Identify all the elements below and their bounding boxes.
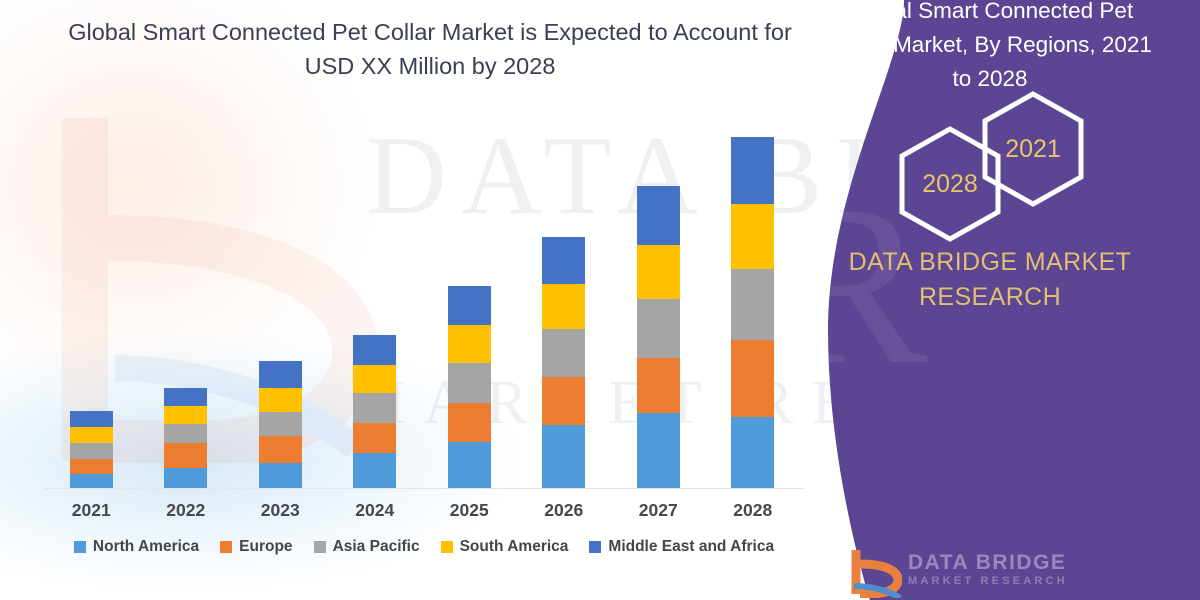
chart-legend: North AmericaEuropeAsia PacificSouth Ame…: [44, 538, 804, 556]
bar-segment[interactable]: [637, 186, 680, 245]
legend-label: South America: [460, 538, 569, 556]
x-axis-line: [44, 488, 804, 489]
stacked-bar[interactable]: [448, 286, 491, 488]
bar-segment[interactable]: [542, 425, 585, 488]
legend-swatch-icon: [74, 541, 86, 553]
bar-segment[interactable]: [164, 388, 207, 406]
x-axis-tick-2027: 2027: [611, 495, 706, 529]
legend-label: North America: [93, 538, 199, 556]
bar-segment[interactable]: [353, 453, 396, 488]
stacked-bar[interactable]: [637, 186, 680, 488]
brand-name: DATA BRIDGE MARKET RESEARCH: [830, 245, 1150, 315]
x-axis-tick-2022: 2022: [139, 495, 234, 529]
stacked-bar-group: [44, 110, 800, 488]
bar-segment[interactable]: [259, 463, 302, 488]
legend-item[interactable]: North America: [74, 538, 199, 556]
hexagon-2028-label: 2028: [922, 170, 978, 199]
bar-segment[interactable]: [448, 442, 491, 488]
footer-b-logo-icon: [846, 548, 902, 598]
bar-segment[interactable]: [448, 325, 491, 363]
bar-segment[interactable]: [731, 137, 774, 204]
bar-segment[interactable]: [353, 423, 396, 453]
bar-segment[interactable]: [542, 284, 585, 329]
hexagon-2021: 2021: [981, 90, 1085, 208]
bar-column-2026: [517, 110, 612, 488]
bar-column-2022: [139, 110, 234, 488]
bar-segment[interactable]: [164, 406, 207, 424]
legend-swatch-icon: [441, 541, 453, 553]
chart-title: Global Smart Connected Pet Collar Market…: [60, 16, 800, 83]
footer-logo-subtext: MARKET RESEARCH: [908, 575, 1068, 587]
legend-swatch-icon: [220, 541, 232, 553]
bar-segment[interactable]: [542, 329, 585, 377]
legend-item[interactable]: Asia Pacific: [314, 538, 420, 556]
bar-segment[interactable]: [259, 361, 302, 388]
bar-segment[interactable]: [731, 340, 774, 417]
bar-segment[interactable]: [448, 403, 491, 442]
bar-column-2023: [233, 110, 328, 488]
bar-segment[interactable]: [70, 411, 113, 427]
bar-segment[interactable]: [259, 388, 302, 412]
bar-segment[interactable]: [448, 286, 491, 325]
bar-segment[interactable]: [70, 459, 113, 474]
bar-segment[interactable]: [637, 358, 680, 413]
bar-segment[interactable]: [637, 245, 680, 299]
bar-column-2028: [706, 110, 801, 488]
bar-segment[interactable]: [637, 413, 680, 488]
bar-column-2025: [422, 110, 517, 488]
brand-line-1: DATA BRIDGE MARKET: [830, 245, 1150, 280]
stacked-bar[interactable]: [353, 335, 396, 488]
bar-column-2024: [328, 110, 423, 488]
stacked-bar[interactable]: [70, 411, 113, 488]
footer-logo-text: DATA BRIDGE: [908, 552, 1066, 574]
legend-item[interactable]: Europe: [220, 538, 292, 556]
bar-segment[interactable]: [353, 335, 396, 365]
x-axis-tick-2025: 2025: [422, 495, 517, 529]
bar-segment[interactable]: [542, 377, 585, 425]
legend-swatch-icon: [589, 541, 601, 553]
x-axis-tick-2023: 2023: [233, 495, 328, 529]
legend-item[interactable]: Middle East and Africa: [589, 538, 774, 556]
infographic-root: DATA BRIDGE MARKET RESEARCH Global Smart…: [0, 0, 1200, 600]
x-axis-tick-2026: 2026: [517, 495, 612, 529]
brand-line-2: RESEARCH: [830, 280, 1150, 315]
stacked-bar[interactable]: [164, 388, 207, 488]
stacked-bar[interactable]: [542, 237, 585, 488]
chart-plot-area: [44, 110, 800, 488]
bar-segment[interactable]: [353, 365, 396, 393]
hexagon-group: 2028 2021: [856, 98, 1156, 243]
footer-logo: DATA BRIDGE MARKET RESEARCH: [846, 548, 1176, 600]
legend-label: Asia Pacific: [333, 538, 420, 556]
bar-segment[interactable]: [70, 474, 113, 488]
stacked-bar[interactable]: [731, 137, 774, 488]
x-axis-tick-2021: 2021: [44, 495, 139, 529]
bar-segment[interactable]: [259, 412, 302, 436]
bar-segment[interactable]: [164, 424, 207, 443]
bar-segment[interactable]: [259, 436, 302, 463]
legend-label: Middle East and Africa: [608, 538, 774, 556]
legend-swatch-icon: [314, 541, 326, 553]
bar-segment[interactable]: [70, 427, 113, 443]
bar-column-2021: [44, 110, 139, 488]
bar-column-2027: [611, 110, 706, 488]
bar-segment[interactable]: [164, 468, 207, 488]
bar-segment[interactable]: [353, 393, 396, 423]
x-axis-tick-2028: 2028: [706, 495, 801, 529]
panel-title: Global Smart Connected Pet Collar Market…: [820, 0, 1160, 95]
right-purple-panel: R Global Smart Connected Pet Collar Mark…: [780, 0, 1200, 600]
x-axis-labels: 20212022202320242025202620272028: [44, 495, 800, 529]
bar-segment[interactable]: [637, 299, 680, 358]
x-axis-tick-2024: 2024: [328, 495, 423, 529]
bar-segment[interactable]: [731, 269, 774, 340]
stacked-bar[interactable]: [259, 361, 302, 488]
bar-segment[interactable]: [731, 417, 774, 488]
bar-segment[interactable]: [448, 363, 491, 403]
bar-segment[interactable]: [731, 204, 774, 269]
bar-segment[interactable]: [542, 237, 585, 284]
legend-item[interactable]: South America: [441, 538, 569, 556]
bar-segment[interactable]: [70, 443, 113, 459]
hexagon-2021-label: 2021: [1005, 135, 1061, 164]
bar-segment[interactable]: [164, 443, 207, 468]
legend-label: Europe: [239, 538, 292, 556]
